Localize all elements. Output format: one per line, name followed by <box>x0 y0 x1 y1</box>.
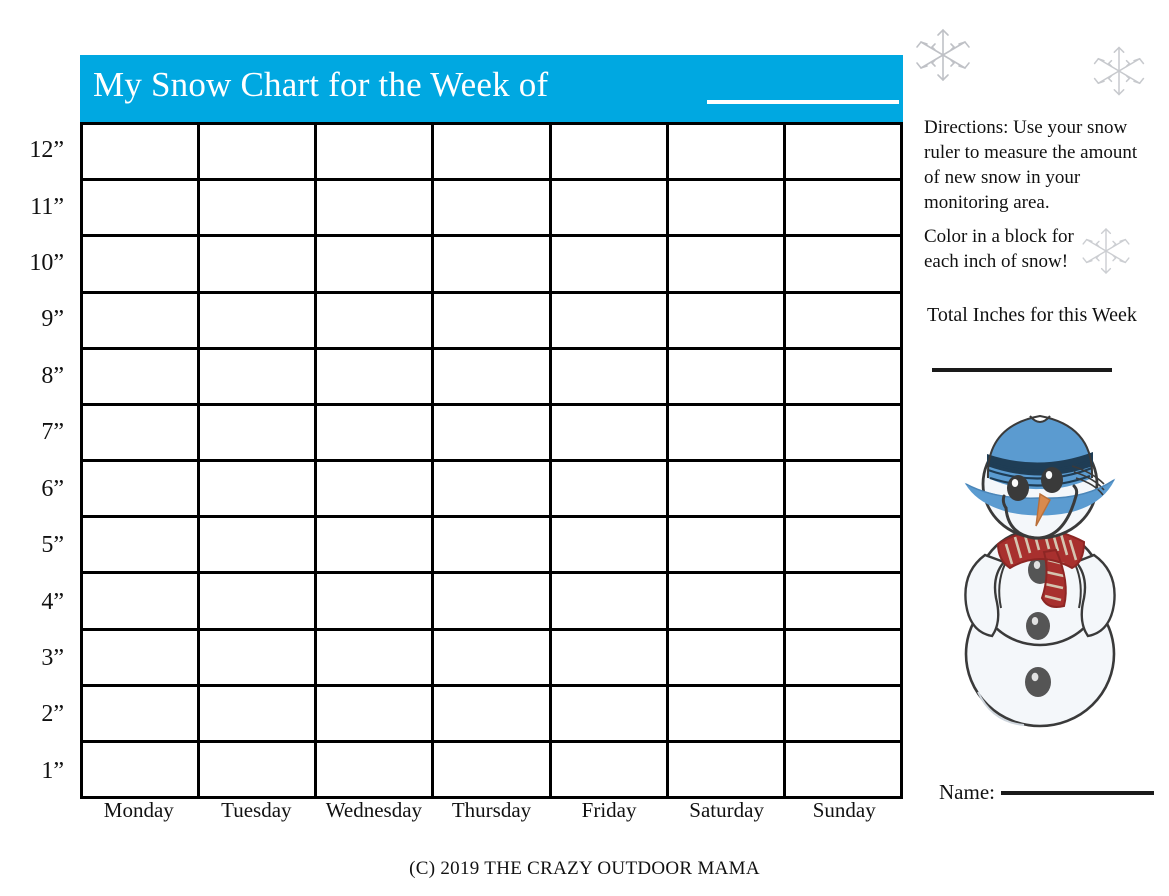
grid-cell[interactable] <box>317 574 434 630</box>
grid-cell[interactable] <box>434 462 551 518</box>
grid-cell[interactable] <box>669 518 786 574</box>
grid-cell[interactable] <box>786 631 903 687</box>
grid-cell[interactable] <box>552 350 669 406</box>
x-axis-tick-friday: Friday <box>550 800 668 832</box>
y-axis-tick: 10” <box>2 235 72 291</box>
name-label: Name: <box>939 782 995 803</box>
y-axis-tick: 1” <box>2 743 72 799</box>
grid-cell[interactable] <box>552 574 669 630</box>
grid-cell[interactable] <box>552 181 669 237</box>
grid-cell[interactable] <box>669 687 786 743</box>
grid-cell[interactable] <box>200 406 317 462</box>
y-axis-tick: 5” <box>2 517 72 573</box>
grid-cell[interactable] <box>669 631 786 687</box>
color-instruction-text: Color in a block for each inch of snow! <box>924 224 1084 274</box>
grid-cell[interactable] <box>552 462 669 518</box>
snowman-illustration <box>952 392 1132 737</box>
grid-cell[interactable] <box>83 574 200 630</box>
x-axis-tick-sunday: Sunday <box>785 800 903 832</box>
y-axis-tick: 8” <box>2 348 72 404</box>
grid-cell[interactable] <box>552 406 669 462</box>
chart-title-bar: My Snow Chart for the Week of <box>80 55 903 122</box>
snow-chart: My Snow Chart for the Week of 12” 11” 10… <box>80 55 903 799</box>
grid-cell[interactable] <box>83 237 200 293</box>
grid-cell[interactable] <box>317 687 434 743</box>
grid-cell[interactable] <box>317 518 434 574</box>
week-of-blank-line[interactable] <box>707 100 899 104</box>
grid-cell[interactable] <box>786 406 903 462</box>
grid-cell[interactable] <box>434 687 551 743</box>
grid-cell[interactable] <box>552 237 669 293</box>
grid-cell[interactable] <box>669 294 786 350</box>
grid-cell[interactable] <box>786 125 903 181</box>
grid-cell[interactable] <box>552 631 669 687</box>
grid-cell[interactable] <box>83 631 200 687</box>
y-axis-tick: 7” <box>2 404 72 460</box>
grid-cell[interactable] <box>552 125 669 181</box>
grid-cell[interactable] <box>669 125 786 181</box>
grid-cell[interactable] <box>200 350 317 406</box>
total-inches-blank-line[interactable] <box>932 368 1112 372</box>
snowflake-icon <box>1088 40 1150 102</box>
grid-cell[interactable] <box>786 687 903 743</box>
grid-cell[interactable] <box>83 687 200 743</box>
grid-cell[interactable] <box>83 181 200 237</box>
grid-cell[interactable] <box>317 125 434 181</box>
grid-cell[interactable] <box>317 743 434 799</box>
grid-cell[interactable] <box>786 518 903 574</box>
copyright-text: (C) 2019 THE CRAZY OUTDOOR MAMA <box>0 858 1169 880</box>
grid-cell[interactable] <box>434 743 551 799</box>
grid-cell[interactable] <box>200 462 317 518</box>
grid-cell[interactable] <box>317 631 434 687</box>
grid-cell[interactable] <box>434 181 551 237</box>
grid-cell[interactable] <box>434 631 551 687</box>
grid-cell[interactable] <box>200 687 317 743</box>
x-axis-tick-saturday: Saturday <box>668 800 786 832</box>
y-axis-tick: 3” <box>2 630 72 686</box>
grid-cell[interactable] <box>552 687 669 743</box>
grid-cell[interactable] <box>669 181 786 237</box>
snowflake-icon <box>910 22 976 88</box>
grid-cell[interactable] <box>434 294 551 350</box>
grid-cell[interactable] <box>200 574 317 630</box>
grid-cell[interactable] <box>786 294 903 350</box>
grid-cell[interactable] <box>669 743 786 799</box>
grid-cell[interactable] <box>200 294 317 350</box>
y-axis-tick: 9” <box>2 291 72 347</box>
grid-cell[interactable] <box>434 350 551 406</box>
name-blank-line[interactable] <box>1001 791 1154 795</box>
directions-text: Directions: Use your snow ruler to measu… <box>924 115 1152 215</box>
grid-cell[interactable] <box>200 125 317 181</box>
name-field-row: Name: <box>939 782 1154 803</box>
grid-cell[interactable] <box>434 406 551 462</box>
grid-cell[interactable] <box>434 574 551 630</box>
x-axis-tick-wednesday: Wednesday <box>315 800 433 832</box>
page-title: My Snow Chart for the Week of <box>93 63 548 107</box>
y-axis-labels: 12” 11” 10” 9” 8” 7” 6” 5” 4” 3” 2” 1” <box>2 122 72 799</box>
grid-cell[interactable] <box>317 294 434 350</box>
y-axis-tick: 6” <box>2 461 72 517</box>
grid-cell[interactable] <box>317 462 434 518</box>
grid-cell[interactable] <box>669 350 786 406</box>
grid-cell[interactable] <box>669 462 786 518</box>
snowflake-icon <box>1077 222 1135 280</box>
grid-cell[interactable] <box>552 518 669 574</box>
x-axis-labels: Monday Tuesday Wednesday Thursday Friday… <box>80 800 903 832</box>
grid-cell[interactable] <box>434 125 551 181</box>
grid-cell[interactable] <box>317 181 434 237</box>
grid-cell[interactable] <box>317 237 434 293</box>
y-axis-tick: 12” <box>2 122 72 178</box>
grid-cell[interactable] <box>669 406 786 462</box>
grid-cell[interactable] <box>786 350 903 406</box>
grid-cell[interactable] <box>83 294 200 350</box>
x-axis-tick-monday: Monday <box>80 800 198 832</box>
grid-cell[interactable] <box>434 237 551 293</box>
grid-cell[interactable] <box>200 631 317 687</box>
grid-cell[interactable] <box>83 125 200 181</box>
grid-cell[interactable] <box>83 518 200 574</box>
grid-cell[interactable] <box>317 350 434 406</box>
y-axis-tick: 4” <box>2 573 72 629</box>
grid-cell[interactable] <box>786 462 903 518</box>
grid-cell[interactable] <box>786 574 903 630</box>
grid-cell[interactable] <box>200 181 317 237</box>
grid-cell[interactable] <box>83 743 200 799</box>
grid-cell[interactable] <box>200 743 317 799</box>
grid-cell[interactable] <box>200 518 317 574</box>
grid-cell[interactable] <box>552 743 669 799</box>
grid-cell[interactable] <box>83 462 200 518</box>
grid-cell[interactable] <box>669 574 786 630</box>
x-axis-tick-tuesday: Tuesday <box>198 800 316 832</box>
total-inches-label: Total Inches for this Week <box>927 303 1137 328</box>
y-axis-tick: 11” <box>2 178 72 234</box>
grid-cell[interactable] <box>317 406 434 462</box>
grid-cell[interactable] <box>786 181 903 237</box>
y-axis-tick: 2” <box>2 686 72 742</box>
chart-grid[interactable] <box>80 122 903 799</box>
grid-cell[interactable] <box>200 237 317 293</box>
grid-cell[interactable] <box>434 518 551 574</box>
grid-cell[interactable] <box>83 350 200 406</box>
grid-cell[interactable] <box>786 237 903 293</box>
grid-cell[interactable] <box>552 294 669 350</box>
grid-cell[interactable] <box>786 743 903 799</box>
grid-cell[interactable] <box>83 406 200 462</box>
grid-cell[interactable] <box>669 237 786 293</box>
x-axis-tick-thursday: Thursday <box>433 800 551 832</box>
